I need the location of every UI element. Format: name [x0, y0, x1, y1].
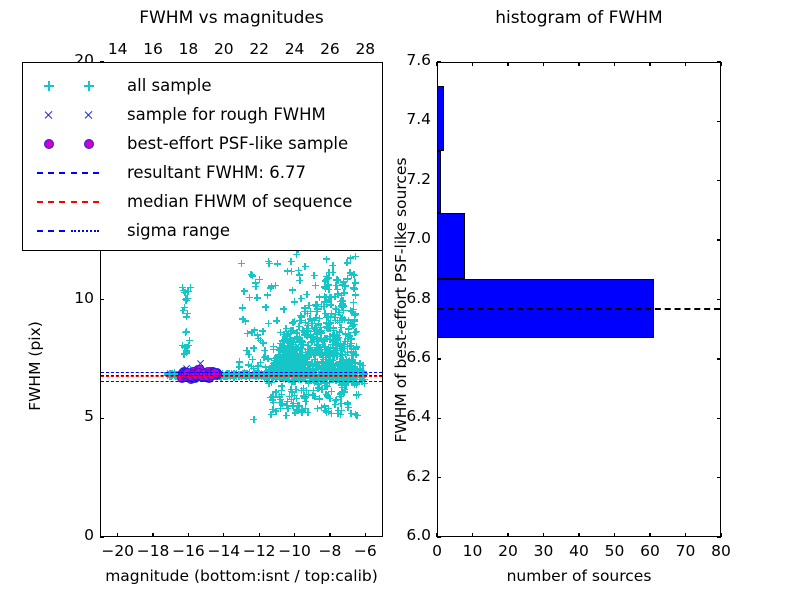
scatter-point-all: [314, 308, 321, 315]
right-xtick: [543, 533, 544, 537]
left-yticklabel: 0: [52, 526, 94, 544]
scatter-point-all: [351, 318, 358, 325]
scatter-point-all: [283, 412, 290, 419]
right-xtick-top: [614, 62, 615, 66]
right-xtick-top: [685, 62, 686, 66]
histogram-bar: [437, 213, 465, 278]
sigma-lower-line: [101, 381, 382, 382]
scatter-point-all: [288, 379, 295, 386]
scatter-point-all: [346, 333, 353, 340]
scatter-point-all: [325, 275, 332, 282]
scatter-point-all: [316, 315, 323, 322]
scatter-point-all: [288, 386, 295, 393]
right-yticklabel: 6.0: [385, 526, 431, 544]
scatter-point-all: [312, 282, 319, 289]
right-ytick: [437, 418, 441, 419]
right-xticklabel: 80: [699, 542, 743, 560]
scatter-point-all: [345, 326, 352, 333]
scatter-point-all: [243, 347, 250, 354]
right-ytick-right: [717, 121, 721, 122]
scatter-point-all: [293, 395, 300, 402]
legend-line-icon: [37, 201, 65, 203]
scatter-point-all: [245, 361, 252, 368]
scatter-point-all: [318, 327, 325, 334]
left-plot-title: FWHM vs magnitudes: [60, 8, 403, 28]
scatter-point-all: [316, 351, 323, 358]
scatter-point-all: [272, 355, 279, 362]
right-xtick: [685, 533, 686, 537]
right-ytick: [437, 61, 441, 62]
right-ytick-right: [717, 61, 721, 62]
scatter-point-all: [284, 268, 291, 275]
scatter-point-all: [337, 411, 344, 418]
right-xtick: [649, 533, 650, 537]
scatter-point-all: [319, 341, 326, 348]
scatter-point-all: [296, 277, 303, 284]
scatter-point-all: [262, 304, 269, 311]
left-yticklabel: 10: [52, 289, 94, 307]
scatter-point-all: [254, 294, 261, 301]
scatter-point-all: [341, 289, 348, 296]
scatter-point-all: [333, 276, 340, 283]
legend-line-icon: [37, 172, 65, 174]
right-xtick-top: [507, 62, 508, 66]
legend-plus-icon: [84, 81, 94, 91]
figure-canvas: FWHM vs magnitudes−20−18−16−14−12−10−8−6…: [0, 0, 800, 600]
right-ytick-right: [717, 358, 721, 359]
scatter-point-all: [308, 347, 315, 354]
right-plot-title: histogram of FWHM: [437, 8, 721, 28]
legend-label: median FHWM of sequence: [127, 189, 352, 215]
scatter-point-all: [331, 331, 338, 338]
legend-cross-icon: [44, 110, 54, 120]
scatter-point-all: [259, 328, 266, 335]
right-ytick-right: [717, 299, 721, 300]
legend-marker: [27, 158, 127, 188]
scatter-point-all: [259, 339, 266, 346]
scatter-point-all: [341, 345, 348, 352]
scatter-point-all: [297, 360, 304, 367]
median-fwhm-line: [101, 376, 382, 377]
scatter-point-all: [274, 260, 281, 267]
scatter-point-all: [239, 316, 246, 323]
scatter-point-all: [321, 283, 328, 290]
histogram-bar: [437, 151, 441, 213]
scatter-point-all: [323, 256, 330, 263]
legend-line-icon: [37, 230, 65, 232]
scatter-point-all: [345, 404, 352, 411]
scatter-point-all: [268, 394, 275, 401]
scatter-point-all: [355, 391, 362, 398]
legend-item: resultant FWHM: 6.77: [23, 158, 382, 188]
scatter-point-all: [304, 409, 311, 416]
scatter-point-all: [328, 410, 335, 417]
right-xlabel: number of sources: [437, 567, 721, 585]
scatter-point-all: [305, 391, 312, 398]
right-xtick: [507, 533, 508, 537]
scatter-point-all: [238, 260, 245, 267]
legend-item: median FHWM of sequence: [23, 187, 382, 217]
legend-label: all sample: [127, 73, 212, 99]
legend-marker: [27, 216, 127, 246]
scatter-point-all: [342, 282, 349, 289]
legend-marker: [27, 129, 127, 159]
scatter-point-all: [316, 396, 323, 403]
scatter-point-all: [328, 310, 335, 317]
scatter-point-all: [329, 262, 336, 269]
right-ytick-right: [717, 239, 721, 240]
legend-cross-icon: [84, 110, 94, 120]
right-xtick-top: [649, 62, 650, 66]
legend-label: resultant FWHM: 6.77: [127, 160, 306, 186]
legend-item: all sample: [23, 71, 382, 101]
scatter-point-all: [334, 286, 341, 293]
right-xtick: [472, 533, 473, 537]
legend-line-icon: [71, 201, 99, 203]
scatter-point-all: [257, 359, 264, 366]
left-yticklabel: 5: [52, 407, 94, 425]
scatter-point-all: [184, 310, 191, 317]
scatter-point-all: [270, 346, 277, 353]
scatter-point-all: [303, 291, 310, 298]
scatter-point-all: [332, 401, 339, 408]
scatter-point-all: [344, 259, 351, 266]
scatter-point-all: [326, 395, 333, 402]
left-ytick: [100, 536, 104, 537]
legend-marker: [27, 100, 127, 130]
scatter-point-all: [314, 405, 321, 412]
scatter-point-all: [353, 381, 360, 388]
scatter-point-all: [337, 298, 344, 305]
scatter-point-all: [298, 338, 305, 345]
scatter-point-all: [352, 253, 359, 260]
scatter-point-all: [348, 272, 355, 279]
scatter-point-all: [248, 329, 255, 336]
legend-label: sigma range: [127, 218, 230, 244]
scatter-point-all: [288, 348, 295, 355]
right-ytick: [437, 477, 441, 478]
legend-marker: [27, 71, 127, 101]
legend-item: best-effort PSF-like sample: [23, 129, 382, 159]
right-ytick: [437, 358, 441, 359]
legend-plus-icon: [44, 81, 54, 91]
scatter-point-all: [307, 332, 314, 339]
left-xticklabel-bottom: −6: [343, 542, 387, 560]
left-ylabel: FWHM (pix): [26, 321, 44, 411]
scatter-point-all: [269, 362, 276, 369]
right-ytick-right: [717, 418, 721, 419]
scatter-point-all: [298, 313, 305, 320]
legend-circle-icon: [44, 139, 54, 149]
right-yticklabel: 7.6: [385, 51, 431, 69]
scatter-point-all: [298, 408, 305, 415]
scatter-point-all: [280, 306, 287, 313]
scatter-point-all: [327, 301, 334, 308]
right-yticklabel: 6.2: [385, 467, 431, 485]
scatter-point-all: [289, 287, 296, 294]
left-xlabel: magnitude (bottom:isnt / top:calib): [100, 567, 383, 585]
legend-circle-icon: [84, 139, 94, 149]
scatter-point-all: [302, 263, 309, 270]
right-ytick-right: [717, 477, 721, 478]
scatter-point-all: [265, 258, 272, 265]
legend-line-icon: [71, 230, 99, 232]
right-xtick: [614, 533, 615, 537]
right-ytick-right: [717, 536, 721, 537]
right-yticklabel: 7.4: [385, 110, 431, 128]
scatter-point-all: [330, 325, 337, 332]
right-xtick: [578, 533, 579, 537]
scatter-point-all: [352, 359, 359, 366]
scatter-point-all: [352, 292, 359, 299]
legend-item: sigma range: [23, 216, 382, 246]
scatter-point-all: [350, 299, 357, 306]
scatter-point-all: [236, 363, 243, 370]
legend-line-icon: [71, 172, 99, 174]
scatter-point-all: [284, 356, 291, 363]
scatter-point-all: [277, 329, 284, 336]
scatter-point-all: [273, 317, 280, 324]
legend-item: sample for rough FWHM: [23, 100, 382, 130]
right-xtick-top: [472, 62, 473, 66]
histogram-median-line: [438, 308, 720, 310]
scatter-point-all: [264, 292, 271, 299]
scatter-point-all: [326, 294, 333, 301]
scatter-point-all: [249, 272, 256, 279]
scatter-point-all: [183, 328, 190, 335]
scatter-point-all: [311, 272, 318, 279]
scatter-point-all: [265, 355, 272, 362]
scatter-point-all: [344, 359, 351, 366]
scatter-point-all: [335, 365, 342, 372]
legend-label: sample for rough FWHM: [127, 102, 326, 128]
legend-label: best-effort PSF-like sample: [127, 131, 348, 157]
scatter-point-all: [315, 384, 322, 391]
scatter-point-all: [284, 339, 291, 346]
scatter-point-all: [250, 416, 257, 423]
histogram-bar: [437, 86, 444, 151]
scatter-point-all: [336, 319, 343, 326]
scatter-point-all: [341, 389, 348, 396]
sigma-upper-line: [101, 372, 382, 373]
scatter-point-all: [182, 296, 189, 303]
scatter-point-all: [291, 298, 298, 305]
scatter-point-all: [252, 279, 259, 286]
legend-marker: [27, 187, 127, 217]
scatter-point-all: [334, 353, 341, 360]
right-xtick-top: [578, 62, 579, 66]
right-xtick-top: [543, 62, 544, 66]
right-ylabel: FWHM of best-effort PSF-like sources: [392, 157, 410, 442]
scatter-point-all: [246, 294, 253, 301]
scatter-point-all: [305, 320, 312, 327]
scatter-point-all: [347, 307, 354, 314]
scatter-point-all: [277, 405, 284, 412]
scatter-point-all: [239, 304, 246, 311]
scatter-point-all: [288, 258, 295, 265]
plot-legend: all samplesample for rough FWHMbest-effo…: [22, 62, 383, 251]
scatter-point-all: [352, 411, 359, 418]
right-ytick: [437, 536, 441, 537]
scatter-point-all: [267, 285, 274, 292]
scatter-point-all: [314, 301, 321, 308]
left-xticklabel-top: 28: [343, 40, 387, 58]
right-ytick-right: [717, 180, 721, 181]
scatter-point-all: [265, 320, 272, 327]
scatter-point-all: [181, 351, 188, 358]
scatter-point-all: [332, 339, 339, 346]
scatter-point-all: [283, 402, 290, 409]
